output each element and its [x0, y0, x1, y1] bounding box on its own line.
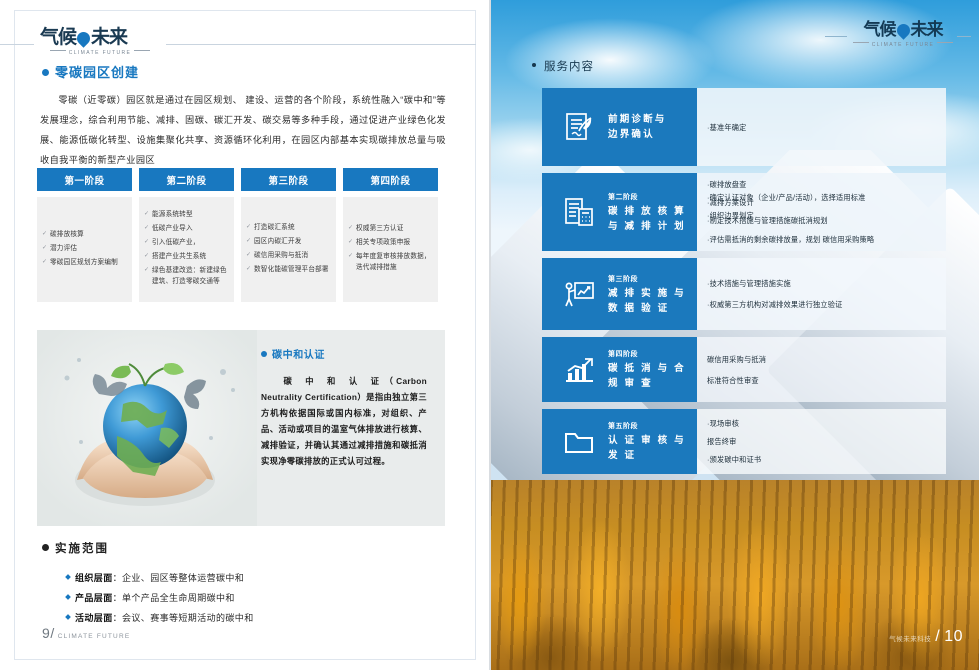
stage-item-label: 能源系统转型: [152, 209, 228, 220]
page-number-slash: /: [935, 628, 940, 646]
page-gutter: [489, 0, 491, 670]
service-row: 第二阶段 碳 排 放 核 算 与 减 排 计 划 ·碳排放盘查 ·确定认证对象（…: [542, 173, 946, 251]
check-icon: ✓: [144, 237, 152, 248]
document-quill-icon: [556, 104, 602, 150]
stage-body-1: ✓碳排放核算 ✓潜力评估 ✓零碳园区规划方案编制: [37, 197, 132, 302]
section-title-scope: 实施范围: [42, 540, 109, 556]
stage-header-3: 第三阶段: [241, 168, 336, 191]
stage-item-label: 权威第三方认证: [356, 223, 432, 234]
service-content-line: ·颁发碳中和证书: [707, 453, 936, 466]
brand-name-part-a: 气候: [864, 20, 896, 39]
service-row-title: 第五阶段 认 证 审 核 与 发 证: [602, 420, 697, 463]
section-title-zero-carbon-park: 零碳园区创建: [42, 62, 139, 81]
cert-lead-cn: 碳 中 和 认 证: [283, 376, 384, 386]
stage-body-4: ✓权威第三方认证 ✓相关专项政策申报 ✓每年度复审核排放数据，迭代减排措施: [343, 197, 438, 302]
check-icon: ✓: [246, 222, 254, 233]
service-row: 前期诊断与 边界确认 ·基准年确定: [542, 88, 946, 166]
stage-item-label: 相关专项政策申报: [356, 237, 432, 248]
stage-item-label: 碳信用采购与抵消: [254, 250, 330, 261]
right-header-rule-left: [825, 36, 847, 37]
carbon-neutrality-card: 碳中和认证 碳 中 和 认 证（Carbon Neutrality Certif…: [37, 330, 445, 526]
stage-item: ✓相关专项政策申报: [348, 237, 432, 248]
intro-paragraph: 零碳（近零碳）园区就是通过在园区规划、 建设、运营的各个阶段，系统性融入“碳中和…: [40, 90, 446, 170]
bullet-dot-icon: [261, 351, 267, 357]
service-row-label: 第二阶段 碳 排 放 核 算 与 减 排 计 划: [542, 173, 697, 251]
bullet-dot-icon: [42, 69, 49, 76]
diamond-bullet-icon: [65, 594, 71, 600]
stage-item: ✓碳排放核算: [42, 229, 126, 240]
service-content-line: 报告终审: [707, 435, 936, 448]
service-content-line: ·现场审核: [707, 417, 936, 430]
section-title-services: 服务内容: [532, 58, 594, 74]
section-title-text: 零碳园区创建: [55, 65, 139, 80]
stage-item-label: 碳排放核算: [50, 229, 126, 240]
check-icon: ✓: [144, 265, 152, 276]
service-content-line: ·减排方案设计: [707, 196, 936, 209]
carbon-neutrality-title-text: 碳中和认证: [272, 350, 325, 361]
stage-item: ✓权威第三方认证: [348, 223, 432, 234]
stage-item: ✓园区内碳汇开发: [246, 236, 330, 247]
header-rule-left: [0, 44, 34, 45]
stage-item: ✓数智化能碳管理平台部署: [246, 264, 330, 275]
carbon-neutrality-text: 碳中和认证 碳 中 和 认 证（Carbon Neutrality Certif…: [257, 330, 445, 526]
scope-item-text: ：单个产品全生命周期碳中和: [113, 593, 235, 603]
brochure-spread: 气候未来 CLIMATE FUTURE 零碳园区创建 零碳（近零碳）园区就是通过…: [0, 0, 979, 670]
right-page: 气候未来 CLIMATE FUTURE 服务内容: [490, 0, 979, 670]
stage-item-label: 打造碳汇系统: [254, 222, 330, 233]
stage-item-label: 潜力评估: [50, 243, 126, 254]
service-row-name-line1: 碳 抵 消 与 合: [608, 361, 689, 376]
stage-header-4: 第四阶段: [343, 168, 438, 191]
service-row-content: ·碳排放盘查 ·确定认证对象（企业/产品/活动），选择适用标准 ·减排方案设计 …: [697, 173, 946, 251]
service-row-name-line1: 前期诊断与: [608, 112, 689, 127]
brand-logo-cn-right: 气候未来: [849, 20, 957, 40]
service-rows: 前期诊断与 边界确认 ·基准年确定: [542, 88, 946, 481]
stage-item-label: 绿色基建改造：新建绿色建筑、打造零碳交通等: [152, 265, 228, 287]
diamond-bullet-icon: [65, 614, 71, 620]
service-row-label: 第三阶段 减 排 实 施 与 数 据 验 证: [542, 258, 697, 330]
service-content-line: ·权威第三方机构对减排效果进行独立验证: [707, 298, 936, 311]
stage-item: ✓打造碳汇系统: [246, 222, 330, 233]
brand-name-part-b: 未来: [911, 20, 943, 39]
stage-column-2: 第二阶段 ✓能源系统转型 ✓低碳产业导入 ✓引入低碳产业， ✓搭建产业共生系统 …: [139, 168, 234, 302]
scope-item-label: 活动层面: [75, 613, 113, 623]
service-row-name-line2: 数 据 验 证: [608, 301, 689, 316]
service-row-content: ·基准年确定: [697, 88, 946, 166]
brand-logo-en-right: CLIMATE FUTURE: [849, 42, 957, 48]
check-icon: ✓: [144, 223, 152, 234]
stage-item: ✓潜力评估: [42, 243, 126, 254]
folder-icon: [556, 419, 602, 465]
hands-earth-photo: [37, 330, 257, 526]
carbon-neutrality-title: 碳中和认证: [261, 346, 427, 361]
stage-item-label: 园区内碳汇开发: [254, 236, 330, 247]
service-row: 第五阶段 认 证 审 核 与 发 证 ·现场审核 报告终审 ·颁发碳中和证书: [542, 409, 946, 474]
stage-item: ✓零碳园区规划方案编制: [42, 257, 126, 268]
service-row-content: ·技术措施与管理措施实施 ·权威第三方机构对减排效果进行独立验证: [697, 258, 946, 330]
bullet-dot-icon: [532, 63, 536, 67]
brand-logo-right: 气候未来 CLIMATE FUTURE: [849, 20, 957, 48]
check-icon: ✓: [246, 264, 254, 275]
service-row-stage: 第四阶段: [608, 348, 689, 361]
hands-earth-illustration: [37, 330, 257, 526]
service-content-line: ·评估需抵消的剩余碳排放量，规划 碳信用采购策略: [707, 233, 936, 246]
stage-column-1: 第一阶段 ✓碳排放核算 ✓潜力评估 ✓零碳园区规划方案编制: [37, 168, 132, 302]
check-icon: ✓: [348, 223, 356, 234]
stage-item-label: 引入低碳产业，: [152, 237, 228, 248]
service-row-name-line2: 边界确认: [608, 127, 689, 142]
list-item: 产品层面：单个产品全生命周期碳中和: [66, 588, 446, 608]
scope-item-label: 产品层面: [75, 593, 113, 603]
stage-table: 第一阶段 ✓碳排放核算 ✓潜力评估 ✓零碳园区规划方案编制 第二阶段 ✓能源系统…: [37, 168, 445, 302]
stage-item: ✓低碳产业导入: [144, 223, 228, 234]
scope-list: 组织层面：企业、园区等整体运营碳中和 产品层面：单个产品全生命周期碳中和 活动层…: [66, 568, 446, 628]
section-title-scope-text: 实施范围: [55, 543, 109, 555]
check-icon: ✓: [246, 250, 254, 261]
stage-item: ✓能源系统转型: [144, 209, 228, 220]
stage-item-label: 零碳园区规划方案编制: [50, 257, 126, 268]
service-row-label: 第四阶段 碳 抵 消 与 合 规 审 查: [542, 337, 697, 402]
service-row-title: 前期诊断与 边界确认: [602, 112, 697, 142]
service-row-stage: 第二阶段: [608, 191, 689, 204]
stage-item-label: 低碳产业导入: [152, 223, 228, 234]
check-icon: ✓: [42, 229, 50, 240]
carbon-neutrality-body: 碳 中 和 认 证（Carbon Neutrality Certificatio…: [261, 373, 427, 469]
service-content-line: ·制定技术措施与管理措施碳抵消规划: [707, 214, 936, 227]
right-header-rule-right: [957, 36, 971, 37]
brand-logo: 气候未来 CLIMATE FUTURE: [40, 28, 160, 62]
right-page-footer: 气候未来科技 / 10: [889, 628, 963, 646]
stage-body-3: ✓打造碳汇系统 ✓园区内碳汇开发 ✓碳信用采购与抵消 ✓数智化能碳管理平台部署: [241, 197, 336, 302]
leaf-icon: [74, 29, 92, 47]
brand-name-part-a: 气候: [40, 27, 76, 48]
left-page-footer: 9/ CLIMATE FUTURE: [42, 625, 130, 641]
stage-item-label: 数智化能碳管理平台部署: [254, 264, 330, 275]
service-row: 第三阶段 减 排 实 施 与 数 据 验 证 ·技术措施与管理措施实施 ·权威第…: [542, 258, 946, 330]
brand-logo-cn: 气候未来: [40, 28, 160, 48]
stage-header-2: 第二阶段: [139, 168, 234, 191]
service-content-line: ·基准年确定: [707, 121, 936, 134]
service-row-name-line1: 减 排 实 施 与: [608, 286, 689, 301]
cert-body-text: 是指由独立第三方机构依据国际或国内标准，对组织、产品、活动或项目的温室气体排放进…: [261, 392, 427, 466]
section-title-services-text: 服务内容: [544, 61, 594, 73]
header-rule-right: [166, 44, 476, 45]
scope-item-text: ：会议、赛事等短期活动的碳中和: [113, 613, 254, 623]
stage-header-1: 第一阶段: [37, 168, 132, 191]
check-icon: ✓: [42, 257, 50, 268]
service-row-name-line2: 规 审 查: [608, 376, 689, 391]
check-icon: ✓: [348, 251, 356, 262]
scope-item-text: ：企业、园区等整体运营碳中和: [113, 573, 245, 583]
stage-item-label: 搭建产业共生系统: [152, 251, 228, 262]
stage-item-label: 每年度复审核排放数据，迭代减排措施: [356, 251, 432, 273]
presentation-person-icon: [556, 271, 602, 317]
page-number: 10: [944, 628, 963, 646]
service-row-content: 碳信用采购与抵消 标准符合性审查: [697, 337, 946, 402]
scope-item-label: 组织层面: [75, 573, 113, 583]
list-item: 组织层面：企业、园区等整体运营碳中和: [66, 568, 446, 588]
growth-chart-icon: [556, 347, 602, 393]
stage-column-3: 第三阶段 ✓打造碳汇系统 ✓园区内碳汇开发 ✓碳信用采购与抵消 ✓数智化能碳管理…: [241, 168, 336, 302]
service-row-title: 第三阶段 减 排 实 施 与 数 据 验 证: [602, 273, 697, 316]
service-row-name-line1: 碳 排 放 核 算: [608, 204, 689, 219]
left-page: 气候未来 CLIMATE FUTURE 零碳园区创建 零碳（近零碳）园区就是通过…: [0, 0, 490, 670]
stage-item: ✓碳信用采购与抵消: [246, 250, 330, 261]
service-row-content: ·现场审核 报告终审 ·颁发碳中和证书: [697, 409, 946, 474]
check-icon: ✓: [246, 236, 254, 247]
stage-item: ✓搭建产业共生系统: [144, 251, 228, 262]
document-calculator-icon: [556, 189, 602, 235]
service-row: 第四阶段 碳 抵 消 与 合 规 审 查 碳信用采购与抵消 标准符合性审查: [542, 337, 946, 402]
stage-column-4: 第四阶段 ✓权威第三方认证 ✓相关专项政策申报 ✓每年度复审核排放数据，迭代减排…: [343, 168, 438, 302]
check-icon: ✓: [144, 251, 152, 262]
brand-logo-en: CLIMATE FUTURE: [40, 50, 160, 56]
service-row-label: 第五阶段 认 证 审 核 与 发 证: [542, 409, 697, 474]
service-row-label: 前期诊断与 边界确认: [542, 88, 697, 166]
bullet-dot-icon: [42, 544, 49, 551]
brand-name-part-b: 未来: [91, 27, 127, 48]
service-content-line: 碳信用采购与抵消: [707, 353, 936, 366]
page-footer-brand: CLIMATE FUTURE: [58, 633, 131, 640]
check-icon: ✓: [144, 209, 152, 220]
service-content-line: 标准符合性审查: [707, 374, 936, 387]
service-row-name-line1: 认 证 审 核 与: [608, 433, 689, 448]
stage-item: ✓每年度复审核排放数据，迭代减排措施: [348, 251, 432, 273]
service-row-title: 第二阶段 碳 排 放 核 算 与 减 排 计 划: [602, 191, 697, 234]
service-row-stage: 第五阶段: [608, 420, 689, 433]
service-content-line: ·技术措施与管理措施实施: [707, 277, 936, 290]
leaf-icon: [894, 21, 912, 39]
service-row-name-line2: 与 减 排 计 划: [608, 219, 689, 234]
check-icon: ✓: [348, 237, 356, 248]
service-content-line: ·碳排放盘查: [707, 178, 936, 191]
service-row-stage: 第三阶段: [608, 273, 689, 286]
page-footer-brand: 气候未来科技: [889, 633, 931, 643]
stage-item: ✓绿色基建改造：新建绿色建筑、打造零碳交通等: [144, 265, 228, 287]
diamond-bullet-icon: [65, 574, 71, 580]
stage-item: ✓引入低碳产业，: [144, 237, 228, 248]
check-icon: ✓: [42, 243, 50, 254]
service-row-name-line2: 发 证: [608, 448, 689, 463]
service-row-title: 第四阶段 碳 抵 消 与 合 规 审 查: [602, 348, 697, 391]
stage-body-2: ✓能源系统转型 ✓低碳产业导入 ✓引入低碳产业， ✓搭建产业共生系统 ✓绿色基建…: [139, 197, 234, 302]
